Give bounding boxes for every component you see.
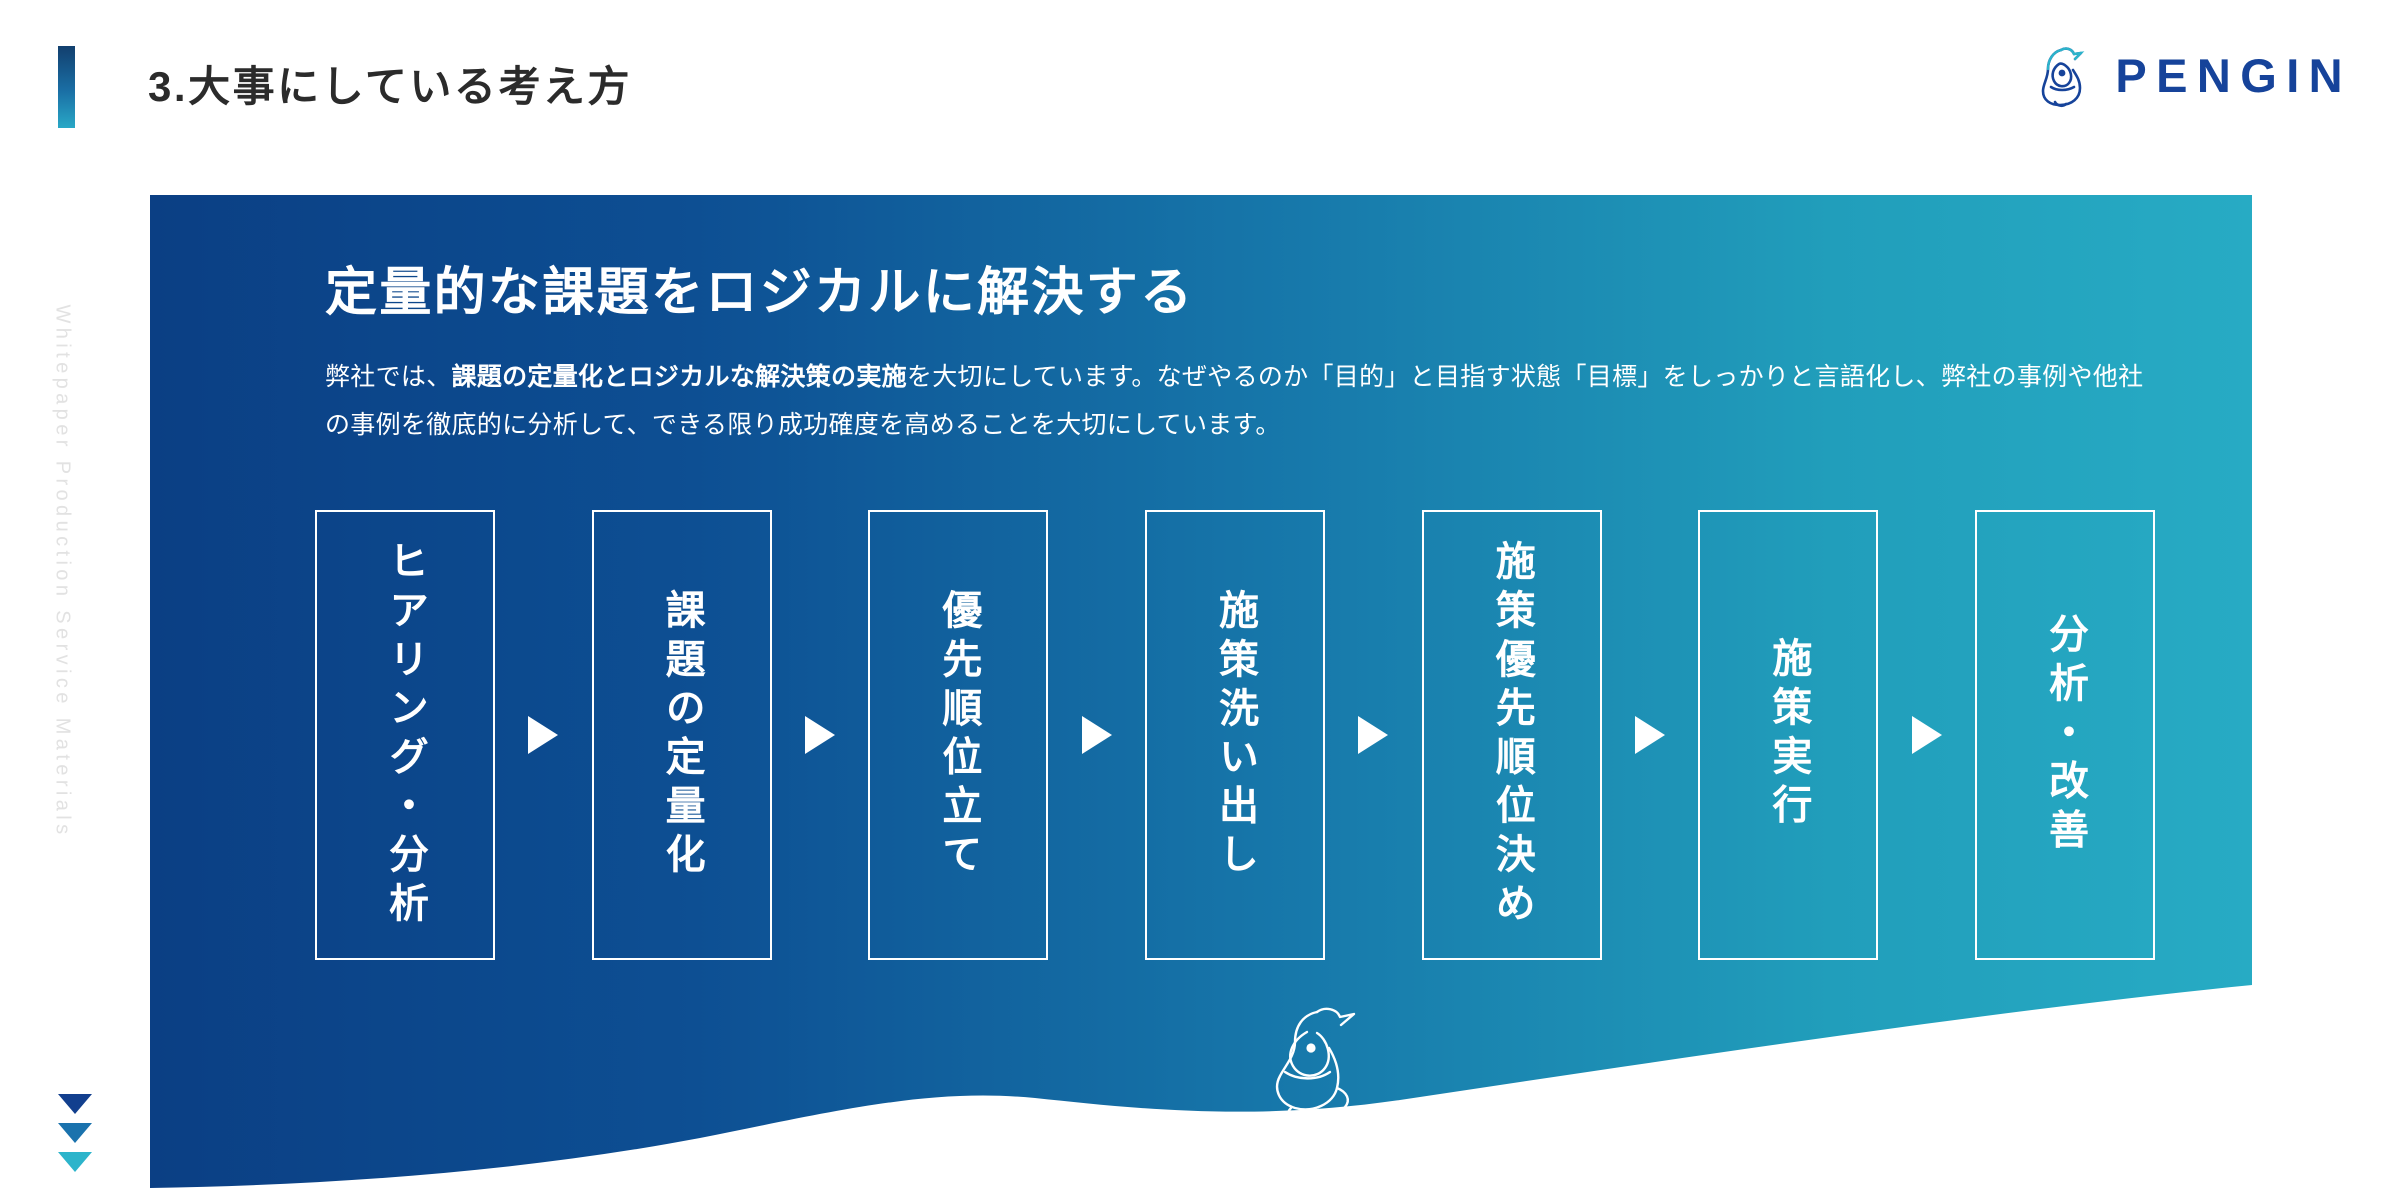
process-step-5[interactable]: 施策優先順位決め xyxy=(1422,510,1602,960)
process-step-4[interactable]: 施策洗い出し xyxy=(1145,510,1325,960)
process-step-2-label: 課題の定量化 xyxy=(662,589,702,882)
body-segment-2-bold: 課題の定量化とロジカルな解決策の実施 xyxy=(452,363,907,391)
process-step-2[interactable]: 課題の定量化 xyxy=(592,510,772,960)
process-arrow-1 xyxy=(495,716,592,754)
panel-content: 定量的な課題をロジカルに解決する 弊社では、課題の定量化とロジカルな解決策の実施… xyxy=(150,195,2252,1200)
panel-heading: 定量的な課題をロジカルに解決する xyxy=(325,250,1194,325)
process-step-6[interactable]: 施策実行 xyxy=(1698,510,1878,960)
process-arrow-4 xyxy=(1325,716,1422,754)
process-step-3[interactable]: 優先順位立て xyxy=(868,510,1048,960)
process-step-5-label: 施策優先順位決め xyxy=(1492,540,1532,930)
process-arrow-6 xyxy=(1878,716,1975,754)
right-triangle-arrow-icon xyxy=(1082,716,1112,754)
process-step-7[interactable]: 分析・改善 xyxy=(1975,510,2155,960)
process-step-4-label: 施策洗い出し xyxy=(1215,589,1255,882)
panel-body-text: 弊社では、課題の定量化とロジカルな解決策の実施を大切にしています。なぜやるのか「… xyxy=(325,353,2155,449)
body-segment-1: 弊社では、 xyxy=(325,363,452,391)
right-triangle-arrow-icon xyxy=(805,716,835,754)
process-arrow-5 xyxy=(1602,716,1699,754)
right-triangle-arrow-icon xyxy=(1912,716,1942,754)
right-triangle-arrow-icon xyxy=(528,716,558,754)
penguin-line-art-icon xyxy=(1255,1000,1375,1130)
process-step-3-label: 優先順位立て xyxy=(938,589,978,882)
process-step-1[interactable]: ヒアリング・分析 xyxy=(315,510,495,960)
process-step-7-label: 分析・改善 xyxy=(2045,613,2085,857)
process-step-6-label: 施策実行 xyxy=(1768,637,1808,832)
right-triangle-arrow-icon xyxy=(1635,716,1665,754)
right-triangle-arrow-icon xyxy=(1358,716,1388,754)
content-panel: 定量的な課題をロジカルに解決する 弊社では、課題の定量化とロジカルな解決策の実施… xyxy=(0,0,2400,1200)
process-step-1-label: ヒアリング・分析 xyxy=(385,540,425,930)
process-arrow-3 xyxy=(1048,716,1145,754)
process-step-row: ヒアリング・分析 課題の定量化 優先順位立て 施策洗い出し xyxy=(315,510,2155,960)
process-arrow-2 xyxy=(772,716,869,754)
